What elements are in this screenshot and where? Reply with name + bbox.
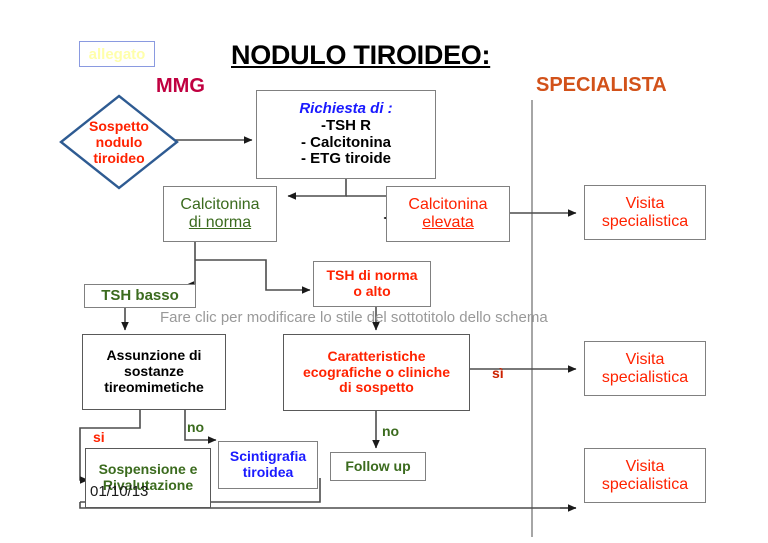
node-caratteristiche-line2: ecografiche o cliniche: [303, 365, 450, 381]
node-calcitonina-norma-line1: Calcitonina: [180, 196, 259, 214]
node-assunzione-line3: tireomimetiche: [104, 380, 204, 396]
node-tsh-norma-o-alto[interactable]: TSH di norma o alto: [313, 261, 431, 307]
page-title: NODULO TIROIDEO:: [231, 40, 490, 71]
node-richiesta-di[interactable]: Richiesta di : -TSH R - Calcitonina - ET…: [256, 90, 436, 179]
node-sospetto-line2: nodulo: [89, 134, 149, 150]
node-assunzione-sostanze[interactable]: Assunzione di sostanze tireomimetiche: [82, 334, 226, 410]
node-caratteristiche-ecografiche[interactable]: Caratteristiche ecografiche o cliniche d…: [283, 334, 470, 411]
node-calcitonina-elevata-line2: elevata: [408, 214, 487, 232]
edge-label-no-caratteristiche: no: [382, 423, 399, 439]
node-assunzione-line1: Assunzione di: [104, 348, 204, 364]
allegato-label: allegato: [89, 46, 146, 63]
node-calcitonina-elevata-line1: Calcitonina: [408, 196, 487, 214]
edge-label-si-assunzione: si: [93, 429, 105, 445]
node-sospetto-line3: tiroideo: [89, 150, 149, 166]
node-sospetto-label: Sospetto nodulo tiroideo: [59, 94, 179, 190]
slide-canvas: allegato NODULO TIROIDEO: MMG SPECIALIST…: [0, 0, 768, 543]
node-richiesta-item-0: -TSH R: [299, 118, 392, 135]
node-sospetto-nodulo-tiroideo[interactable]: Sospetto nodulo tiroideo: [59, 94, 179, 190]
node-richiesta-item-1: - Calcitonina: [299, 135, 392, 152]
node-sospetto-line1: Sospetto: [89, 118, 149, 134]
allegato-tag[interactable]: allegato: [79, 41, 155, 67]
node-scintigrafia-line2: tiroidea: [230, 465, 306, 481]
node-visita-1-line2: specialistica: [602, 213, 688, 231]
node-tsh-norma-line2: o alto: [326, 284, 417, 300]
node-visita-specialistica-2[interactable]: Visita specialistica: [584, 341, 706, 396]
node-assunzione-line2: sostanze: [104, 364, 204, 380]
node-calcitonina-elevata[interactable]: Calcitonina elevata: [386, 186, 510, 242]
node-visita-2-line1: Visita: [602, 351, 688, 369]
node-visita-1-line1: Visita: [602, 195, 688, 213]
node-calcitonina-di-norma[interactable]: Calcitonina di norma: [163, 186, 277, 242]
node-visita-3-line1: Visita: [602, 458, 688, 476]
node-visita-specialistica-3[interactable]: Visita specialistica: [584, 448, 706, 503]
column-header-specialista: SPECIALISTA: [536, 74, 667, 97]
node-tsh-norma-line1: TSH di norma: [326, 268, 417, 284]
node-follow-up-label: Follow up: [345, 459, 410, 475]
edge-label-si-caratteristiche: sì: [492, 365, 504, 381]
node-visita-3-line2: specialistica: [602, 476, 688, 494]
node-follow-up[interactable]: Follow up: [330, 452, 426, 481]
node-tsh-basso[interactable]: TSH basso: [84, 284, 196, 308]
node-tsh-basso-label: TSH basso: [101, 288, 179, 305]
date-stamp: 01/10/13: [90, 483, 148, 500]
node-calcitonina-norma-line2: di norma: [180, 214, 259, 232]
node-scintigrafia-tiroidea[interactable]: Scintigrafia tiroidea: [218, 441, 318, 489]
node-richiesta-item-2: - ETG tiroide: [299, 151, 392, 168]
subtitle-placeholder[interactable]: Fare clic per modificare lo stile del so…: [160, 309, 548, 326]
node-caratteristiche-line1: Caratteristiche: [303, 349, 450, 365]
edge-label-no-assunzione: no: [187, 419, 204, 435]
node-caratteristiche-line3: di sospetto: [303, 380, 450, 396]
node-sospensione-line1: Sospensione e: [99, 462, 198, 478]
node-scintigrafia-line1: Scintigrafia: [230, 449, 306, 465]
node-richiesta-heading: Richiesta di :: [299, 101, 392, 118]
node-visita-2-line2: specialistica: [602, 369, 688, 387]
node-visita-specialistica-1[interactable]: Visita specialistica: [584, 185, 706, 240]
